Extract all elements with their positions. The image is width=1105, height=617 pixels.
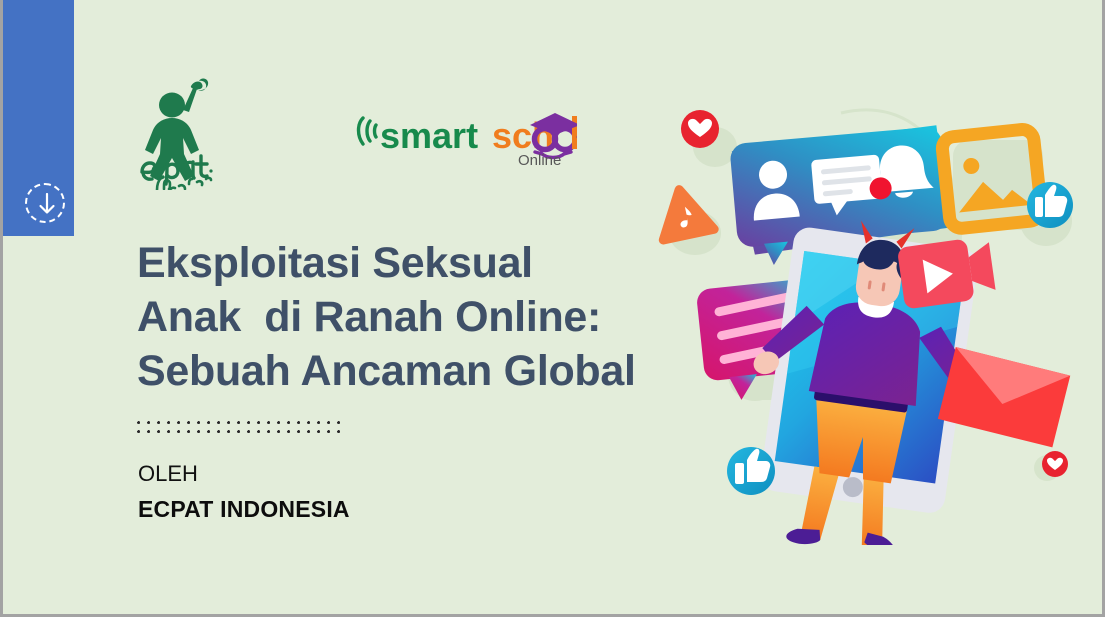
left-blue-sidebar — [3, 0, 74, 236]
dotted-divider — [137, 421, 345, 435]
slide-canvas: smart sch Online — [0, 0, 1105, 617]
music-triangle-icon — [654, 184, 714, 240]
heart-small-icon — [1042, 451, 1068, 477]
title-line-2: Anak di Ranah Online: — [137, 290, 677, 344]
download-arrow-icon[interactable] — [25, 183, 65, 223]
logo-text-smart: smart — [380, 115, 478, 156]
thumbs-up-icon — [1027, 182, 1073, 228]
title-line-3: Sebuah Ancaman Global — [137, 344, 677, 398]
thumbs-up-small-icon — [727, 447, 775, 495]
envelope-icon — [938, 347, 1070, 447]
title-line-1: Eksploitasi Seksual — [137, 236, 677, 290]
social-media-illustration — [643, 85, 1093, 545]
byline-author: ECPAT INDONESIA — [138, 496, 350, 523]
heart-badge-icon — [681, 110, 719, 148]
logo-text-online: Online — [518, 152, 561, 169]
smart-school-online-logo: smart sch Online — [349, 108, 577, 176]
page-title: Eksploitasi Seksual Anak di Ranah Online… — [137, 236, 677, 399]
byline-label: OLEH — [138, 461, 198, 487]
video-camera-icon — [897, 235, 997, 309]
ecpat-indonesia-logo — [131, 68, 219, 190]
